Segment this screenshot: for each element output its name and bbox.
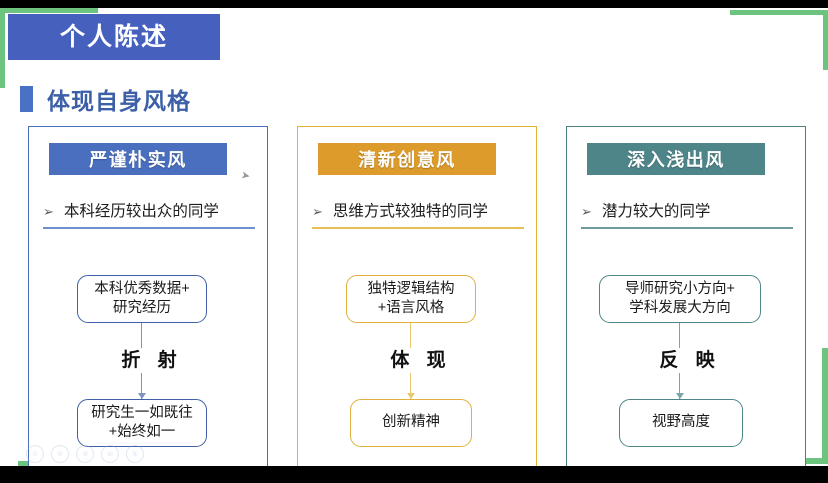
watermark-circle-icon: ② (51, 445, 69, 463)
corner-accent-top-right-vertical (823, 10, 828, 70)
bullet-arrow-icon: ➢ (43, 205, 54, 218)
card-badge: 清新创意风 (318, 143, 496, 175)
card-mid-label: 折 射 (29, 345, 269, 372)
card-mid-label: 反 映 (567, 345, 807, 372)
corner-accent-top-left-vertical (0, 8, 5, 88)
square-bullet-icon (20, 86, 33, 112)
card-bullet-row: ➢ 思维方式较独特的同学 (312, 199, 524, 221)
style-card-rigorous: 严谨朴实风 ➤ ➢ 本科经历较出众的同学 本科优秀数据+ 研究经历 折 射 研究… (28, 126, 268, 466)
section-heading: 体现自身风格 (47, 82, 191, 116)
card-badge-label: 清新创意风 (358, 146, 456, 172)
page-title: 个人陈述 (60, 25, 168, 50)
card-mid-label: 体 现 (298, 345, 538, 372)
cursor-pointer-icon: ➤ (240, 168, 252, 183)
style-card-creative: 清新创意风 ➢ 思维方式较独特的同学 独特逻辑结构 +语言风格 体 现 创新精神 (297, 126, 537, 466)
card-bullet-row: ➢ 潜力较大的同学 (581, 199, 793, 221)
card-badge: 严谨朴实风 (49, 143, 227, 175)
card-top-node-line2: 学科发展大方向 (629, 299, 731, 318)
slide-canvas: 个人陈述 体现自身风格 严谨朴实风 ➤ ➢ 本科经历较出众的同学 本科优秀数据+… (0, 8, 828, 466)
watermark-circle-icon: ① (26, 445, 44, 463)
card-bullet-text: 潜力较大的同学 (602, 199, 711, 221)
card-bullet-text: 本科经历较出众的同学 (64, 199, 219, 221)
slide-title-banner: 个人陈述 (8, 14, 220, 60)
card-bottom-node-line1: 视野高度 (652, 413, 710, 432)
card-badge-label: 严谨朴实风 (89, 146, 187, 172)
card-bottom-node: 研究生一如既往 +始终如一 (77, 399, 207, 447)
card-top-node: 独特逻辑结构 +语言风格 (346, 275, 476, 323)
card-top-node-line2: 研究经历 (113, 299, 171, 318)
card-top-node-line2: +语言风格 (378, 299, 444, 318)
columns-container: 严谨朴实风 ➤ ➢ 本科经历较出众的同学 本科优秀数据+ 研究经历 折 射 研究… (0, 118, 828, 466)
watermark-icons: ① ② ③ ④ ⑤ (26, 445, 144, 463)
style-card-accessible: 深入浅出风 ➢ 潜力较大的同学 导师研究小方向+ 学科发展大方向 反 映 视野高… (566, 126, 806, 466)
card-badge-label: 深入浅出风 (627, 146, 725, 172)
card-badge: 深入浅出风 (587, 143, 765, 175)
corner-accent-top-right-horizontal (730, 10, 828, 15)
card-bottom-node: 视野高度 (619, 399, 743, 447)
bullet-arrow-icon: ➢ (312, 205, 323, 218)
card-bottom-node: 创新精神 (350, 399, 472, 447)
card-top-node-line1: 导师研究小方向+ (625, 280, 735, 299)
card-bottom-node-line1: 研究生一如既往 (91, 404, 193, 423)
card-top-node: 导师研究小方向+ 学科发展大方向 (599, 275, 761, 323)
card-top-node-line1: 独特逻辑结构 (368, 280, 455, 299)
watermark-circle-icon: ⑤ (126, 445, 144, 463)
bullet-arrow-icon: ➢ (581, 205, 592, 218)
corner-accent-top-left-horizontal (0, 8, 98, 13)
card-bullet-row: ➢ 本科经历较出众的同学 (43, 199, 255, 221)
card-top-node-line1: 本科优秀数据+ (94, 280, 189, 299)
watermark-circle-icon: ③ (76, 445, 94, 463)
card-bottom-node-line1: 创新精神 (382, 413, 440, 432)
card-top-node: 本科优秀数据+ 研究经历 (77, 275, 207, 323)
subtitle-row: 体现自身风格 (20, 82, 191, 116)
card-bullet-text: 思维方式较独特的同学 (333, 199, 488, 221)
card-bottom-node-line2: +始终如一 (109, 423, 175, 442)
card-divider (312, 227, 524, 229)
card-divider (581, 227, 793, 229)
watermark-circle-icon: ④ (101, 445, 119, 463)
card-divider (43, 227, 255, 229)
